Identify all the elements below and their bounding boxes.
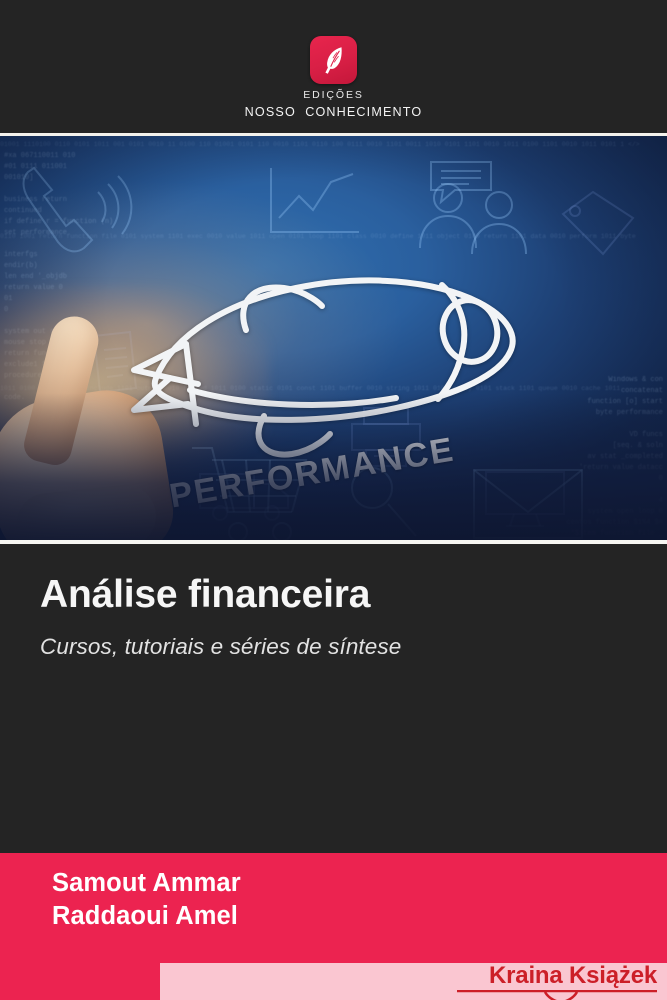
code-text-right: Windows & con concatenat function [o] st… — [523, 375, 663, 543]
publisher-name-line2: NOSSO CONHECIMENTO — [245, 106, 423, 119]
user-icon — [416, 178, 480, 250]
background-code-band: 0110 1001 return function file 0101 syst… — [0, 232, 667, 241]
pointing-hand — [0, 321, 198, 543]
book-cover: EDIÇÕES NOSSO CONHECIMENTO 01001 1110100… — [0, 0, 667, 1000]
shopping-cart-icon — [188, 434, 318, 543]
background-code-band: 01001 1110100 0110 0101 1011 001 0101 00… — [0, 140, 667, 149]
open-book-icon — [457, 990, 657, 1000]
magnifier-icon — [342, 460, 424, 543]
book-title: Análise financeira — [40, 573, 370, 617]
code-text-left: #xa 067110011 010 #01 0111 011001 001010… — [4, 151, 124, 404]
background-code-band: 1011 0100 define 0101 include 1101 outpu… — [0, 384, 667, 393]
monitor-icon — [480, 466, 570, 532]
chat-bubble-icon — [425, 156, 497, 208]
publisher-name-line1: EDIÇÕES — [303, 90, 364, 101]
artwork-bottom-fade — [0, 393, 667, 543]
book-subtitle: Cursos, tutoriais e séries de síntese — [40, 633, 401, 660]
retailer-watermark-label: Kraina Książek — [489, 964, 657, 988]
author-name: Raddaoui Amel — [0, 900, 667, 933]
envelope-icon — [468, 462, 588, 543]
warm-glow — [0, 286, 270, 486]
truck-icon — [196, 466, 296, 524]
price-tag-icon — [545, 184, 641, 262]
cover-artwork: 01001 1110100 0110 0101 1011 001 0101 00… — [0, 136, 667, 543]
retailer-watermark: Kraina Książek — [160, 963, 667, 1000]
title-block: Análise financeira Cursos, tutoriais e s… — [0, 544, 667, 853]
document-icon — [86, 328, 142, 398]
user-icon — [468, 186, 530, 256]
artwork-vignette — [0, 136, 667, 543]
rocket-performance-label: PERFORMANCE — [167, 430, 458, 516]
line-chart-icon — [265, 162, 365, 242]
quill-feather-icon — [310, 36, 357, 84]
publisher-header: EDIÇÕES NOSSO CONHECIMENTO — [0, 0, 667, 133]
author-name: Samout Ammar — [0, 853, 667, 900]
rocket-sketch-icon — [78, 248, 548, 463]
phone-ringing-icon — [10, 158, 140, 278]
printer-icon — [344, 404, 428, 470]
